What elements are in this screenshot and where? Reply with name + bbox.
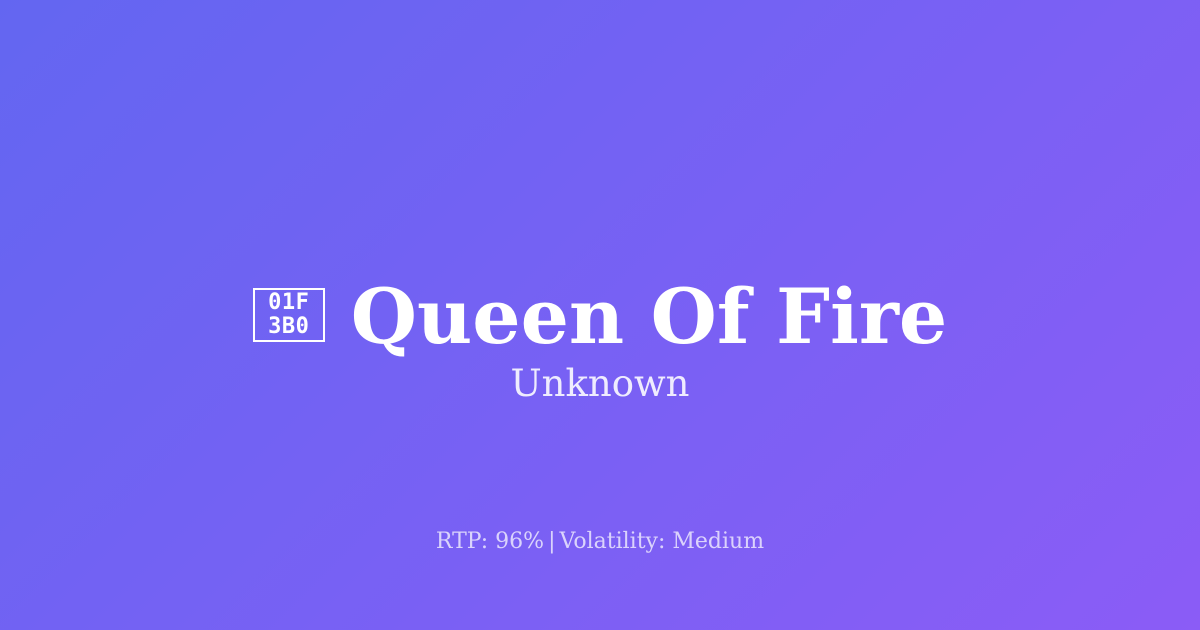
og-share-card: 01F 3B0 Queen Of Fire Unknown RTP: 96%|V… bbox=[0, 0, 1200, 630]
tofu-codepoint-high: 01F bbox=[268, 291, 309, 315]
stat-separator: | bbox=[544, 529, 559, 554]
volatility-stat: Volatility: Medium bbox=[560, 529, 765, 554]
game-stats: RTP: 96%|Volatility: Medium bbox=[0, 529, 1200, 555]
game-provider-label: Unknown bbox=[0, 364, 1200, 405]
rtp-stat: RTP: 96% bbox=[436, 529, 544, 554]
page-title: Queen Of Fire bbox=[351, 279, 947, 355]
tofu-codepoint-low: 3B0 bbox=[268, 315, 309, 339]
slot-machine-icon: 01F 3B0 bbox=[253, 288, 325, 342]
